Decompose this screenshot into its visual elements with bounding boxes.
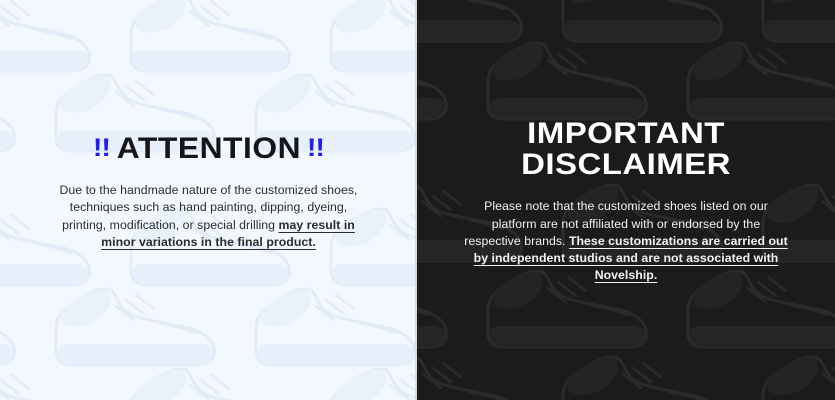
- attention-panel: !! ATTENTION !! Due to the handmade natu…: [0, 0, 417, 400]
- exclamation-left-icon: !!: [93, 136, 110, 161]
- disclaimer-title-line-2: DISCLAIMER: [446, 149, 807, 180]
- disclaimer-title-line-1: IMPORTANT: [446, 118, 807, 149]
- attention-content: !! ATTENTION !! Due to the handmade natu…: [0, 133, 417, 251]
- customization-disclaimer-banner: !! ATTENTION !! Due to the handmade natu…: [0, 0, 835, 400]
- disclaimer-panel: IMPORTANT DISCLAIMER Please note that th…: [417, 0, 835, 400]
- attention-body: Due to the handmade nature of the custom…: [50, 182, 367, 252]
- exclamation-right-icon: !!: [307, 136, 324, 161]
- attention-heading: !! ATTENTION !!: [50, 133, 367, 165]
- disclaimer-body: Please note that the customized shoes li…: [462, 198, 790, 284]
- attention-title: ATTENTION: [116, 133, 300, 165]
- disclaimer-content: IMPORTANT DISCLAIMER Please note that th…: [417, 118, 835, 284]
- panel-divider: [415, 0, 417, 400]
- disclaimer-title: IMPORTANT DISCLAIMER: [446, 118, 807, 180]
